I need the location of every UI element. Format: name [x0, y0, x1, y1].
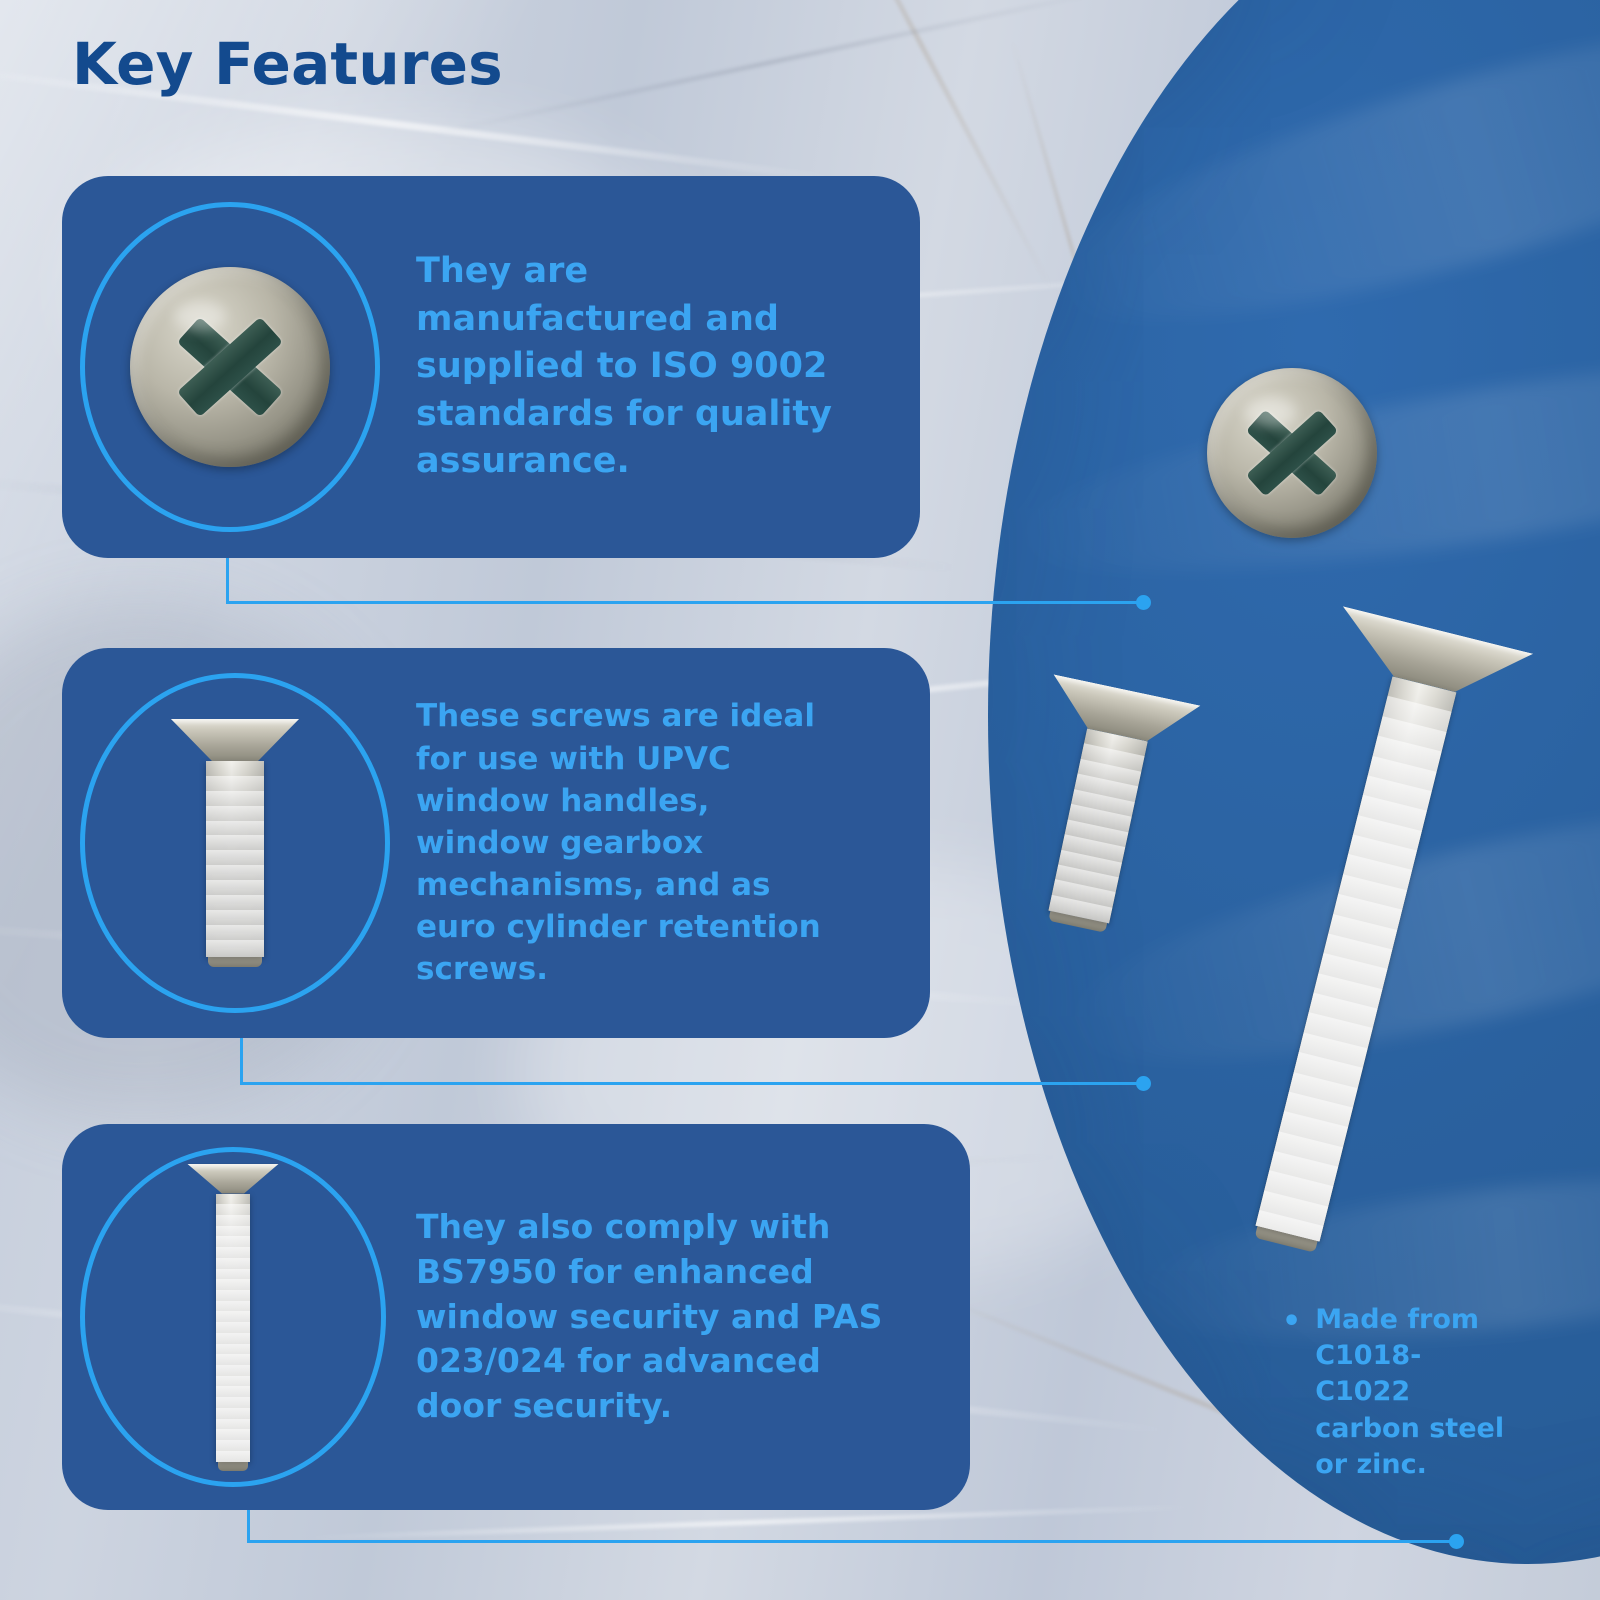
countersunk-screw-short-icon: [80, 673, 390, 1013]
feature-text-iso-9002: They are manufactured and supplied to IS…: [416, 248, 846, 486]
feature-text-upvc-applications: These screws are ideal for use with UPVC…: [416, 695, 836, 990]
feature-card-bs7950-pas[interactable]: They also comply with BS7950 for enhance…: [62, 1124, 970, 1510]
feature-text-bs7950-pas: They also comply with BS7950 for enhance…: [416, 1205, 886, 1429]
bullet-marker-icon: •: [1282, 1302, 1301, 1483]
screw-head-photo: [1207, 368, 1377, 538]
side-bullet-text: Made from C1018-C1022 carbon steel or zi…: [1315, 1302, 1512, 1483]
screw-head-top-icon: [80, 202, 380, 532]
feature-card-iso-9002[interactable]: They are manufactured and supplied to IS…: [62, 176, 920, 558]
page-title: Key Features: [72, 30, 503, 98]
countersunk-screw-long-icon: [80, 1147, 386, 1487]
feature-card-upvc-applications[interactable]: These screws are ideal for use with UPVC…: [62, 648, 930, 1038]
side-bullet-item: • Made from C1018-C1022 carbon steel or …: [1282, 1302, 1512, 1483]
